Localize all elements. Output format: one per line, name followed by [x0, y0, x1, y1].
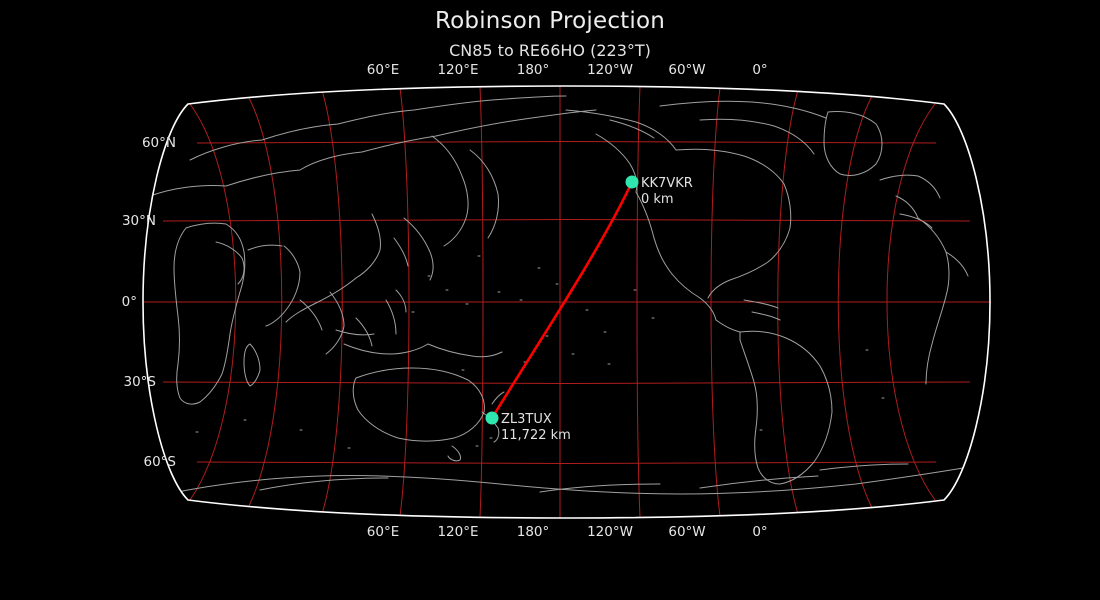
lon-label-top-4: 60°W	[668, 62, 705, 78]
lon-label-bottom-4: 60°W	[668, 524, 705, 540]
lat-label-30s: 30°S	[124, 374, 157, 390]
lon-label-bottom-1: 120°E	[437, 524, 478, 540]
lon-label-top-5: 0°	[752, 62, 767, 78]
station-marker-kk7vkr[interactable]	[626, 176, 639, 189]
coastlines	[150, 96, 975, 498]
station-marker-zl3tux[interactable]	[486, 412, 499, 425]
lon-label-bottom-5: 0°	[752, 524, 767, 540]
lon-label-top-3: 120°W	[587, 62, 633, 78]
lon-label-bottom-3: 120°W	[587, 524, 633, 540]
lat-label-30n: 30°N	[122, 213, 156, 229]
lon-label-bottom-2: 180°	[517, 524, 550, 540]
lon-label-top-1: 120°E	[437, 62, 478, 78]
lon-label-bottom-0: 60°E	[367, 524, 399, 540]
lon-label-top-0: 60°E	[367, 62, 399, 78]
lat-label-60s: 60°S	[144, 454, 177, 470]
map-canvas	[0, 0, 1100, 600]
graticule-parallels	[143, 142, 990, 464]
robinson-projection-map: Robinson Projection CN85 to RE66HO (223°…	[0, 0, 1100, 600]
lat-label-60n: 60°N	[142, 135, 176, 151]
lat-label-0: 0°	[122, 294, 137, 310]
great-circle-path	[492, 182, 632, 418]
lon-label-top-2: 180°	[517, 62, 550, 78]
